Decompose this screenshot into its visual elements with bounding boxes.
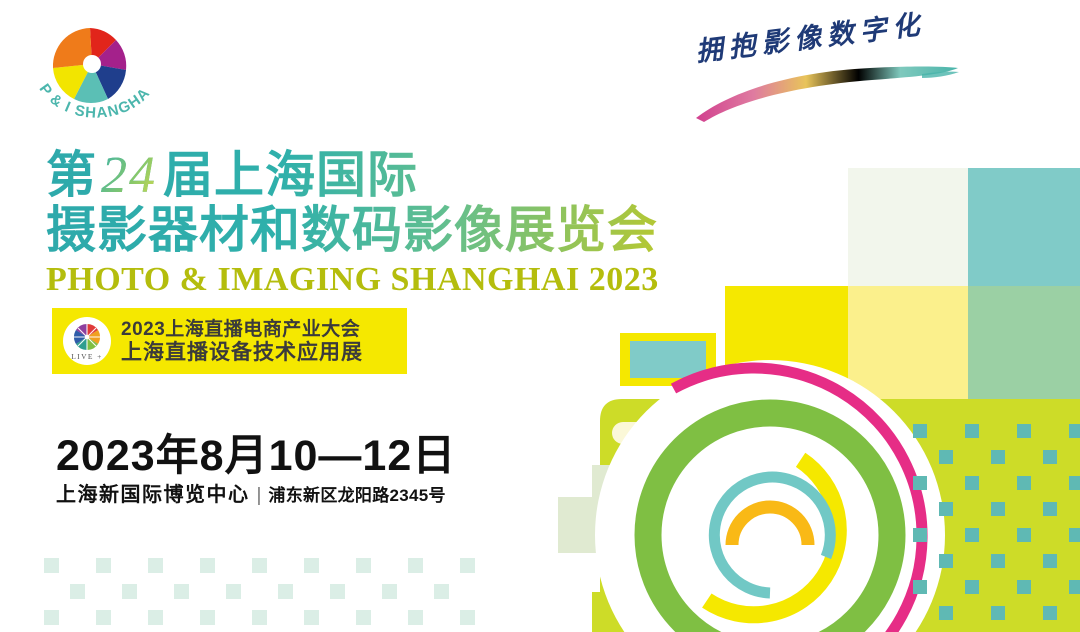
decor-dot [1069, 476, 1080, 490]
sub-event-badge[interactable]: LIVE + 2023上海直播电商产业大会 上海直播设备技术应用展 [52, 308, 407, 374]
decor-dot [1043, 502, 1057, 516]
decor-dot [965, 424, 979, 438]
pi-shanghai-logo: P & I SHANGHAI [30, 22, 180, 130]
badge-text-block: 2023上海直播电商产业大会 上海直播设备技术应用展 [121, 318, 363, 364]
decor-dot [356, 610, 371, 625]
decor-dot [1043, 606, 1057, 620]
decor-dot [991, 554, 1005, 568]
decor-dot [434, 584, 449, 599]
live-globe-icon [74, 324, 100, 350]
decor-dot [408, 610, 423, 625]
decor-dot [913, 476, 927, 490]
title-english: PHOTO & IMAGING SHANGHAI 2023 [46, 261, 666, 299]
decor-dot [965, 528, 979, 542]
decor-dot [460, 558, 475, 573]
decor-dot [148, 558, 163, 573]
decor-dot [1069, 424, 1080, 438]
decor-dot [939, 606, 953, 620]
decor-dot [1043, 554, 1057, 568]
badge-line-1: 2023上海直播电商产业大会 [121, 318, 363, 341]
decor-dot [1017, 528, 1031, 542]
decor-dot [991, 502, 1005, 516]
decor-dot [991, 606, 1005, 620]
decor-dot [200, 558, 215, 573]
decor-dot [965, 580, 979, 594]
decor-dot [200, 610, 215, 625]
decor-dot [939, 554, 953, 568]
decor-dot [304, 610, 319, 625]
poster-canvas: P & I SHANGHAI 拥抱影像数字化 第24届上海国际 摄影器材和数码影… [0, 0, 1080, 632]
decor-dot [330, 584, 345, 599]
decor-dot [356, 558, 371, 573]
decor-dot [44, 610, 59, 625]
decor-dot [148, 610, 163, 625]
headline-block: 第24届上海国际 摄影器材和数码影像展览会 PHOTO & IMAGING SH… [46, 148, 666, 299]
badge-line-2: 上海直播设备技术应用展 [121, 341, 363, 364]
decor-dot [408, 558, 423, 573]
title-line-2: 摄影器材和数码影像展览会 [46, 203, 666, 257]
venue-separator: | [257, 485, 262, 507]
venue-name: 上海新国际博览中心 [56, 478, 250, 507]
live-plus-logo: LIVE + [63, 317, 111, 365]
event-date: 2023年8月10—12日 [56, 421, 456, 483]
decor-dot [382, 584, 397, 599]
decor-dot [252, 558, 267, 573]
decor-dot [460, 610, 475, 625]
decor-dot [70, 584, 85, 599]
decor-dot [1017, 580, 1031, 594]
decor-dot [939, 502, 953, 516]
calligraphy-slogan: 拥抱影像数字化 [690, 30, 960, 125]
decor-dot [44, 558, 59, 573]
decor-dot [965, 476, 979, 490]
venue-address: 浦东新区龙阳路2345号 [268, 481, 445, 506]
decor-dot [226, 584, 241, 599]
decor-dot [991, 450, 1005, 464]
decor-dot [1069, 528, 1080, 542]
decor-dot [1069, 580, 1080, 594]
decor-dot [174, 584, 189, 599]
title-line-1: 第24届上海国际 [46, 148, 666, 203]
decor-dot [96, 610, 111, 625]
decor-dot [913, 528, 927, 542]
logo-aperture-petals [53, 28, 126, 103]
decor-dot [278, 584, 293, 599]
decor-dot [122, 584, 137, 599]
title-suffix: 届上海国际 [163, 147, 418, 203]
decor-dot [252, 610, 267, 625]
decor-dot [1043, 450, 1057, 464]
decor-dot [913, 580, 927, 594]
decor-dot [1017, 476, 1031, 490]
event-venue-row: 上海新国际博览中心 | 浦东新区龙阳路2345号 [56, 478, 446, 507]
decor-dot [913, 424, 927, 438]
edition-number: 24 [97, 147, 163, 204]
title-prefix: 第 [46, 147, 97, 203]
decor-dot [96, 558, 111, 573]
decor-dot [304, 558, 319, 573]
decor-dot [939, 450, 953, 464]
decor-dot [1017, 424, 1031, 438]
brush-stroke [696, 67, 958, 123]
live-plus-label: LIVE + [71, 352, 103, 361]
